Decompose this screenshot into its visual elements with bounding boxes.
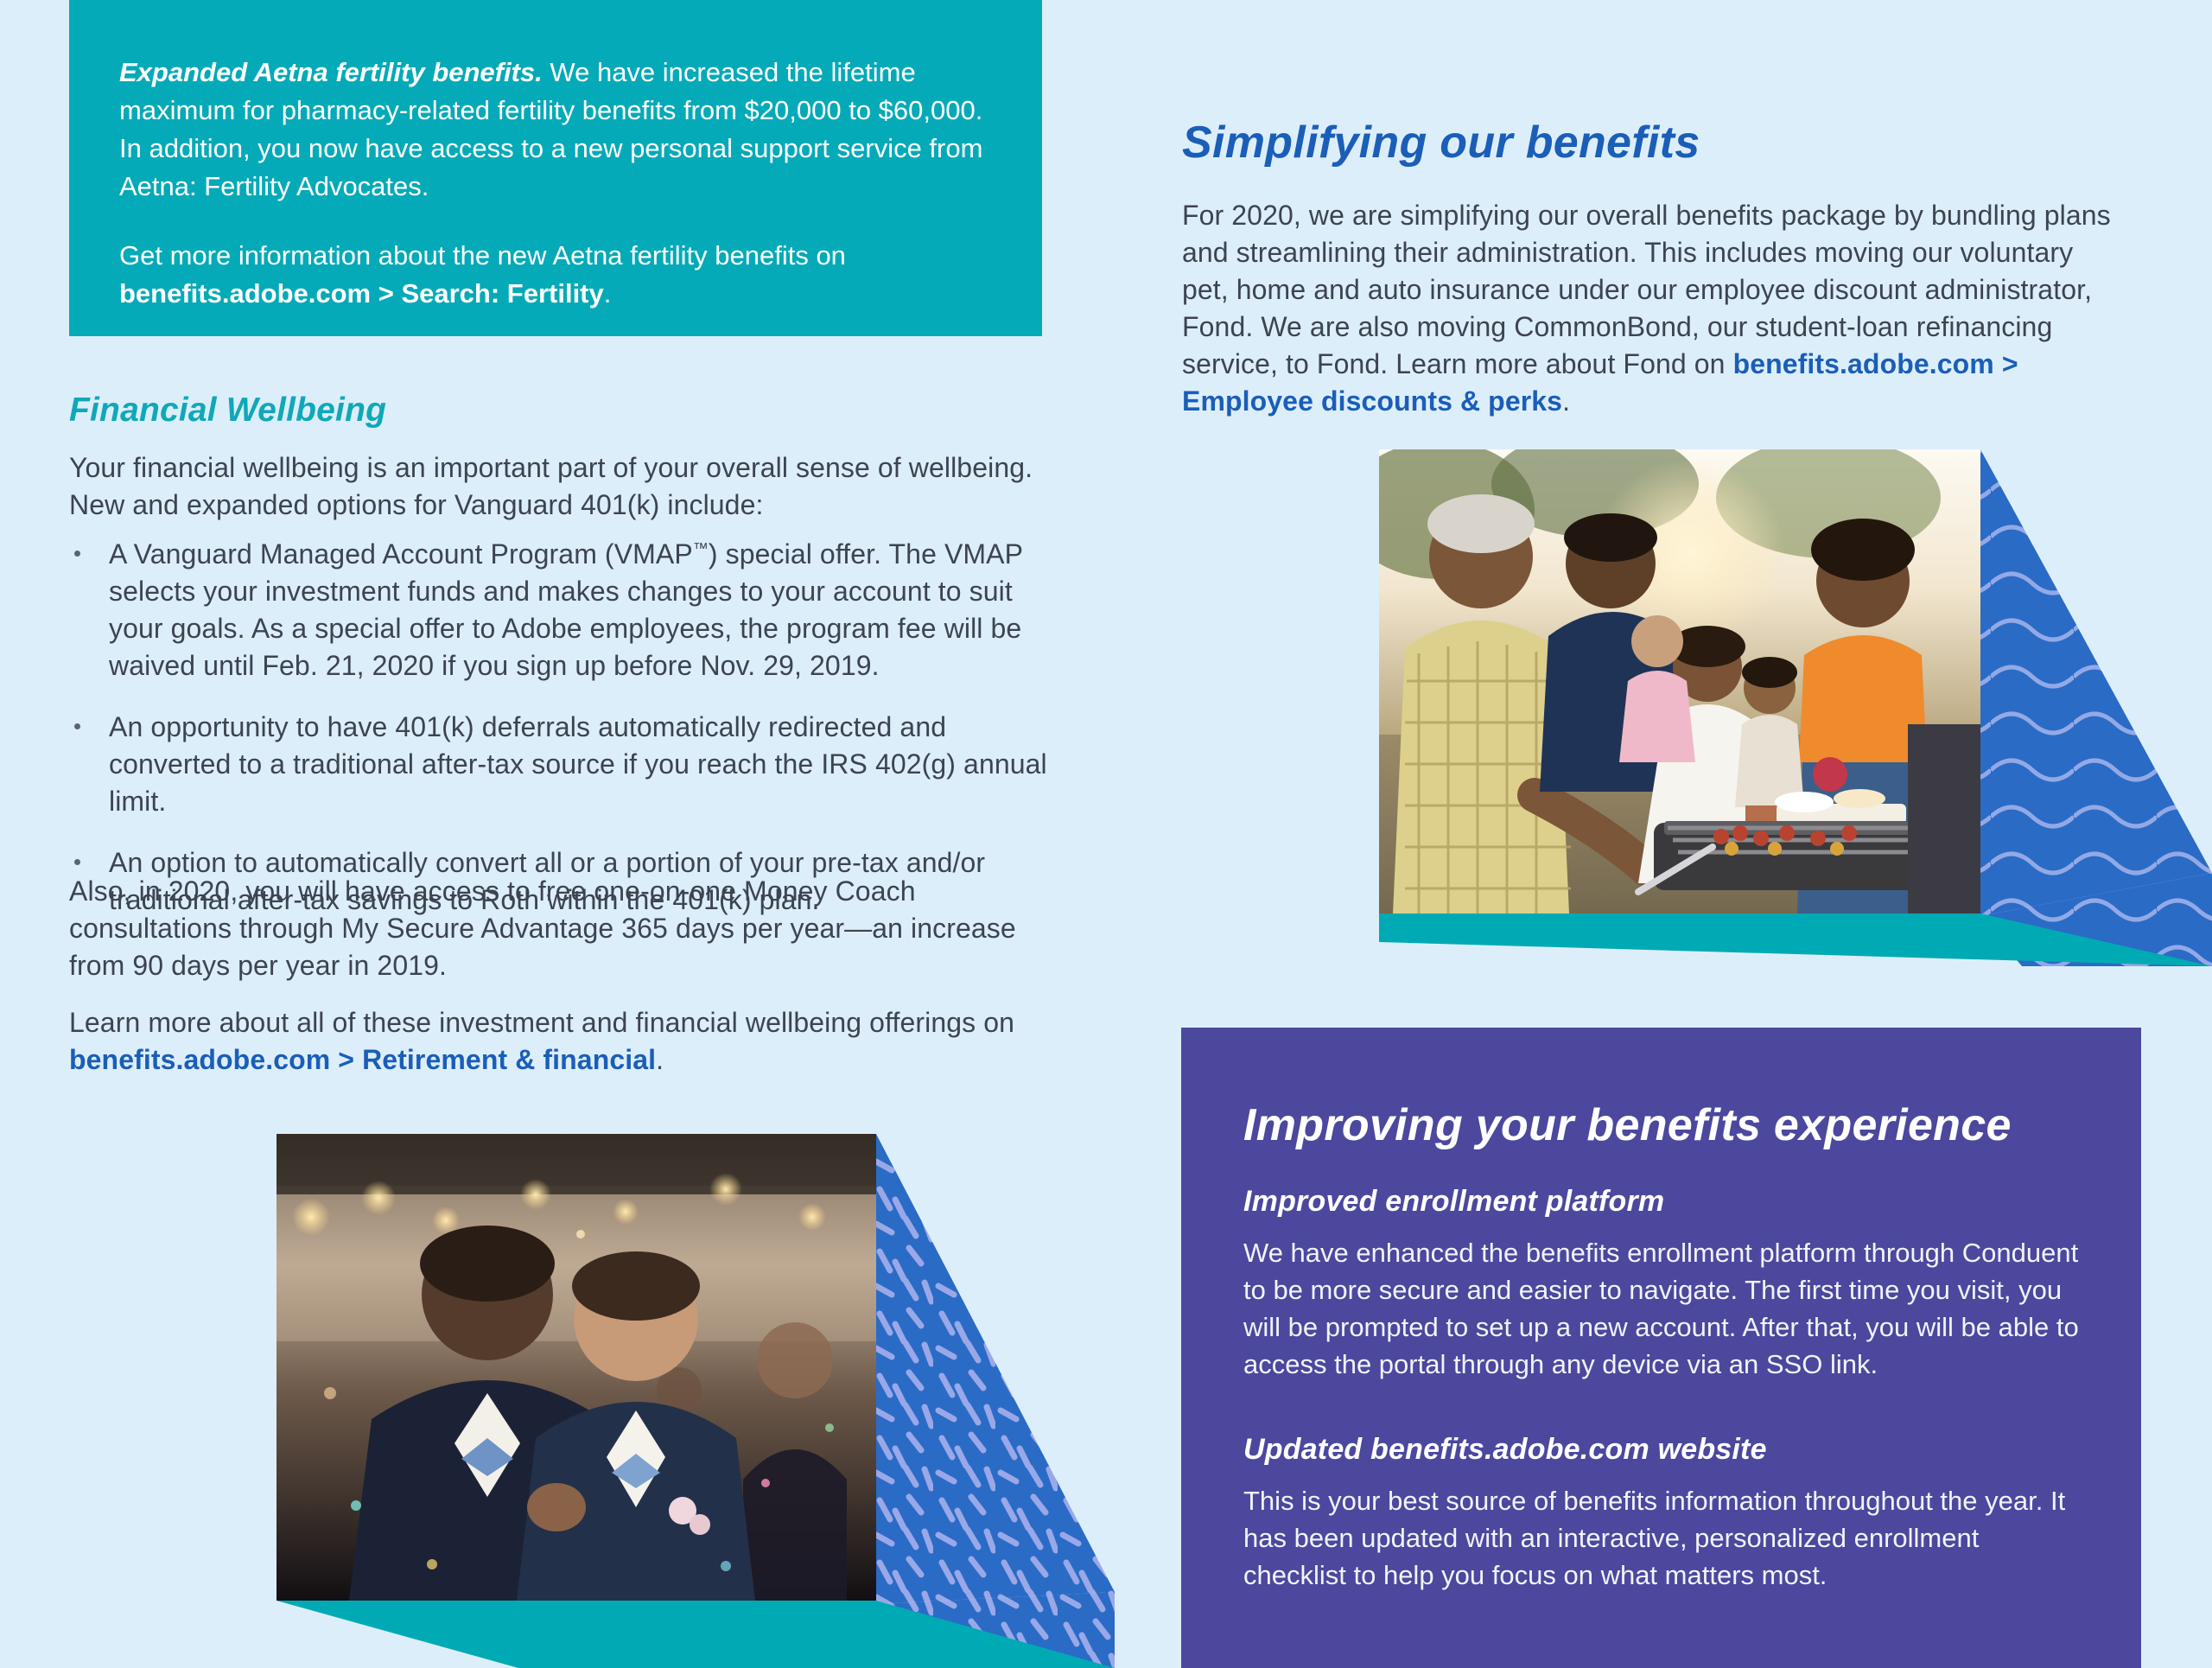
financial-learn-more-paragraph: Learn more about all of these investment… bbox=[69, 1004, 1046, 1079]
fertility-cta-lead: Get more information about the new Aetna… bbox=[119, 240, 846, 271]
improving-experience-card: Improving your benefits experience Impro… bbox=[1181, 1028, 2141, 1668]
teal-wedge-left bbox=[276, 1601, 1115, 1668]
trademark-icon: ™ bbox=[693, 539, 709, 557]
bullet-dot-icon bbox=[74, 859, 80, 865]
financial-wellbeing-intro: Your financial wellbeing is an important… bbox=[69, 449, 1046, 524]
learn-more-tail: . bbox=[656, 1044, 664, 1075]
improved-enrollment-subheading: Improved enrollment platform bbox=[1243, 1185, 2081, 1219]
list-item: An opportunity to have 401(k) deferrals … bbox=[69, 709, 1050, 820]
money-coach-paragraph: Also, in 2020, you will have access to f… bbox=[69, 873, 1037, 984]
updated-website-body: This is your best source of benefits inf… bbox=[1243, 1482, 2081, 1594]
fertility-lead-bold: Expanded Aetna fertility benefits. bbox=[119, 57, 543, 87]
bullet-2-text: An opportunity to have 401(k) deferrals … bbox=[109, 711, 1047, 817]
brochure-page: Expanded Aetna fertility benefits. We ha… bbox=[0, 0, 2212, 1668]
updated-website-subheading: Updated benefits.adobe.com website bbox=[1243, 1433, 2081, 1467]
dash-triangle-decoration bbox=[876, 1134, 1115, 1604]
fertility-cta-paragraph: Get more information about the new Aetna… bbox=[119, 237, 988, 313]
fertility-benefits-card: Expanded Aetna fertility benefits. We ha… bbox=[69, 0, 1042, 336]
list-item: A Vanguard Managed Account Program (VMAP… bbox=[69, 536, 1050, 684]
bullet-1-text-before: A Vanguard Managed Account Program (VMAP bbox=[109, 538, 693, 570]
simplifying-benefits-heading: Simplifying our benefits bbox=[1182, 117, 1700, 169]
wedding-couple-photo bbox=[276, 1134, 876, 1601]
simplifying-benefits-paragraph: For 2020, we are simplifying our overall… bbox=[1182, 197, 2124, 420]
teal-wedge-right bbox=[1379, 914, 2212, 966]
learn-more-lead: Learn more about all of these investment… bbox=[69, 1007, 1014, 1038]
fertility-link[interactable]: benefits.adobe.com > Search: Fertility bbox=[119, 278, 604, 309]
fertility-paragraph: Expanded Aetna fertility benefits. We ha… bbox=[119, 54, 988, 206]
bullet-dot-icon bbox=[74, 723, 80, 729]
family-photo-artwork bbox=[1379, 449, 1980, 914]
family-barbecue-photo bbox=[1379, 449, 1980, 914]
wedding-photo-artwork bbox=[276, 1134, 876, 1601]
bullet-dot-icon bbox=[74, 551, 80, 557]
fertility-cta-tail: . bbox=[604, 278, 612, 309]
simplifying-tail: . bbox=[1562, 385, 1570, 417]
retirement-financial-link[interactable]: benefits.adobe.com > Retirement & financ… bbox=[69, 1044, 656, 1075]
improving-experience-heading: Improving your benefits experience bbox=[1243, 1095, 2081, 1156]
financial-wellbeing-heading: Financial Wellbeing bbox=[69, 392, 386, 430]
wave-triangle-decoration-lower bbox=[1980, 873, 2212, 966]
wave-triangle-decoration bbox=[1980, 449, 2212, 916]
improved-enrollment-body: We have enhanced the benefits enrollment… bbox=[1243, 1234, 2081, 1383]
dash-triangle-decoration-lower bbox=[876, 1592, 1115, 1668]
